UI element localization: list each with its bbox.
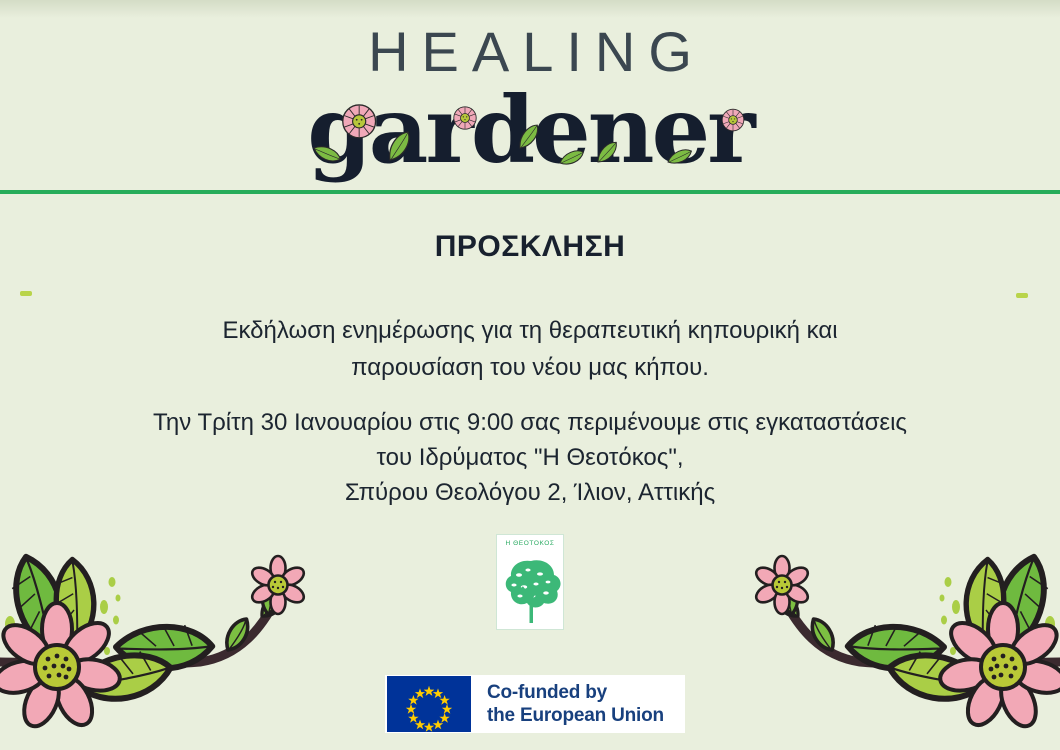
eu-cofunded-logo: Co-funded by the European Union xyxy=(385,675,685,733)
brand-gardener-wordmark-wrap: gardener xyxy=(0,80,1060,185)
invitation-details-line-2: του Ιδρύματος "Η Θεοτόκος", xyxy=(0,440,1060,475)
theotokos-logo: Η ΘΕΟΤΟΚΟΣ xyxy=(496,534,564,630)
invitation-details-line-1: Την Τρίτη 30 Ιανουαρίου στις 9:00 σας πε… xyxy=(0,405,1060,440)
green-dash-left-icon xyxy=(20,291,32,296)
flower-small-right-branch xyxy=(753,556,811,614)
eu-logo-text-line-1: Co-funded by xyxy=(487,681,664,704)
flower-small-left-branch xyxy=(249,556,307,614)
invitation-intro-line-1: Εκδήλωση ενημέρωσης για τη θεραπευτική κ… xyxy=(0,312,1060,349)
brand-healing-wordmark: HEALING xyxy=(0,22,1060,82)
invitation-details: Την Τρίτη 30 Ιανουαρίου στις 9:00 σας πε… xyxy=(0,405,1060,510)
eu-logo-text-line-2: the European Union xyxy=(487,704,664,727)
invitation-poster: HEALING gardener xyxy=(0,0,1060,750)
flower-big-left xyxy=(0,603,123,732)
green-dash-right-icon xyxy=(1016,293,1028,298)
eu-logo-text: Co-funded by the European Union xyxy=(487,681,664,727)
floral-decoration-right xyxy=(730,550,1060,750)
invitation-details-line-3: Σπύρου Θεολόγου 2, Ίλιον, Αττικής xyxy=(0,475,1060,510)
eu-stars-icon xyxy=(387,676,471,732)
floral-decoration-left xyxy=(0,550,330,750)
eu-flag-icon xyxy=(387,676,471,732)
flower-big-right xyxy=(937,603,1060,732)
invitation-intro-line-2: παρουσίαση του νέου μας κήπου. xyxy=(0,349,1060,386)
tree-icon xyxy=(500,551,562,625)
theotokos-logo-label: Η ΘΕΟΤΟΚΟΣ xyxy=(497,540,563,547)
green-divider xyxy=(0,190,1060,194)
invitation-title: ΠΡΟΣΚΛΗΣΗ xyxy=(0,230,1060,264)
invitation-intro: Εκδήλωση ενημέρωσης για τη θεραπευτική κ… xyxy=(0,312,1060,386)
brand-gardener-wordmark: gardener xyxy=(307,80,752,180)
brand-header: HEALING gardener xyxy=(0,0,1060,190)
